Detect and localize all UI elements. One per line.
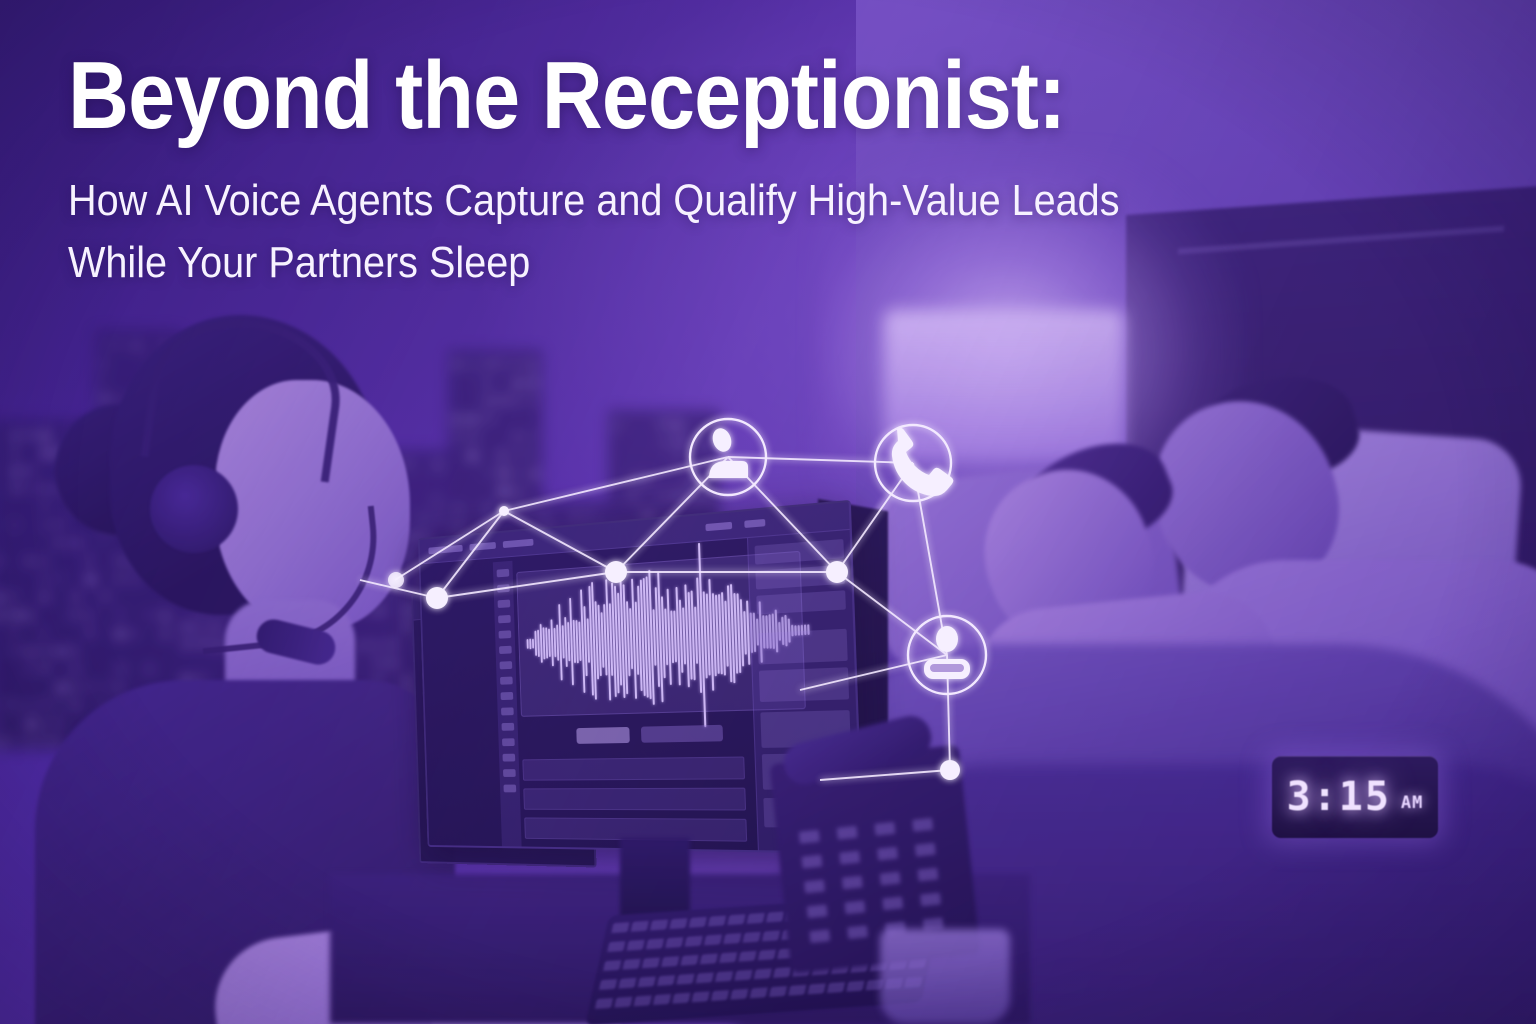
subtitle-line-1: How AI Voice Agents Capture and Qualify … xyxy=(68,170,1112,232)
hero-banner: 3:15 AM Beyond the Receptionist: How AI … xyxy=(0,0,1536,1024)
page-subtitle: How AI Voice Agents Capture and Qualify … xyxy=(68,170,1112,294)
clock-meridiem: AM xyxy=(1401,781,1423,813)
headline-block: Beyond the Receptionist: How AI Voice Ag… xyxy=(68,48,1228,294)
clock-time: 3:15 xyxy=(1287,777,1391,817)
alarm-clock: 3:15 AM xyxy=(1272,756,1438,838)
page-title: Beyond the Receptionist: xyxy=(68,48,1089,144)
subtitle-line-2: While Your Partners Sleep xyxy=(68,232,1112,294)
